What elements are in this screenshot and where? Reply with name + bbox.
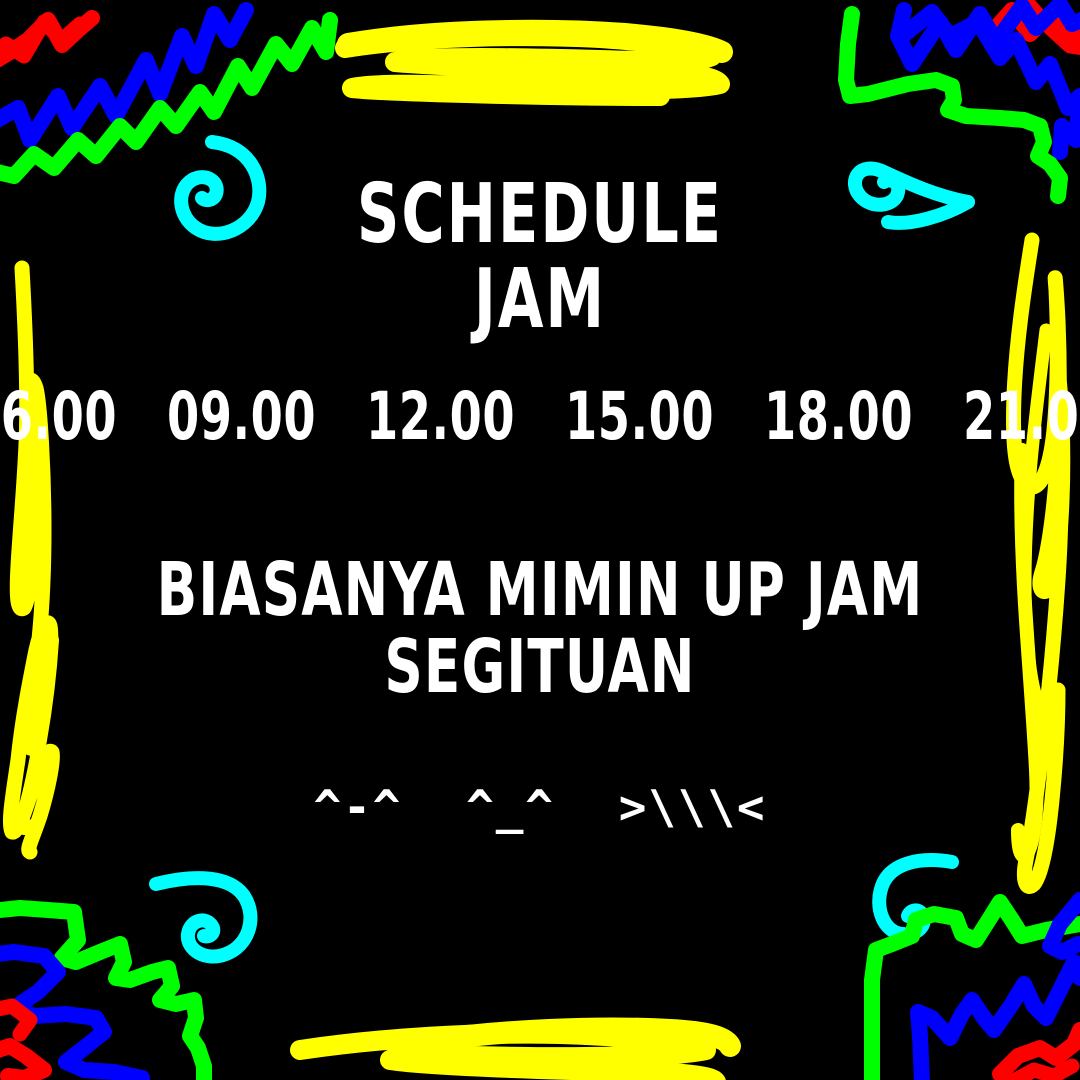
- emoticon-happy-1: ^-^: [314, 780, 403, 834]
- title-block: SCHEDULE JAM: [0, 172, 1080, 343]
- emoticon-blush: >\\\<: [619, 780, 767, 834]
- emoticons-row: ^-^ ^_^ >\\\<: [0, 780, 1080, 834]
- schedule-time: 15.00: [562, 378, 717, 455]
- schedule-time: 21.00: [960, 378, 1080, 455]
- schedule-time: 09.00: [164, 378, 319, 455]
- schedule-time: 06.00: [0, 378, 120, 455]
- schedule-times-row: 06.00 09.00 12.00 15.00 18.00 21.00: [0, 378, 1080, 455]
- message-block: BIASANYA MIMIN UP JAM SEGITUAN: [0, 552, 1080, 706]
- schedule-time: 18.00: [761, 378, 916, 455]
- message-line-1: BIASANYA MIMIN UP JAM: [108, 552, 972, 629]
- poster-canvas: SCHEDULE JAM 06.00 09.00 12.00 15.00 18.…: [0, 0, 1080, 1080]
- message-line-2: SEGITUAN: [108, 629, 972, 706]
- title-line-schedule: SCHEDULE: [108, 172, 972, 257]
- poster-content: SCHEDULE JAM 06.00 09.00 12.00 15.00 18.…: [0, 0, 1080, 1080]
- title-line-jam: JAM: [108, 257, 972, 342]
- emoticon-happy-2: ^_^: [466, 780, 555, 834]
- schedule-time: 12.00: [363, 378, 518, 455]
